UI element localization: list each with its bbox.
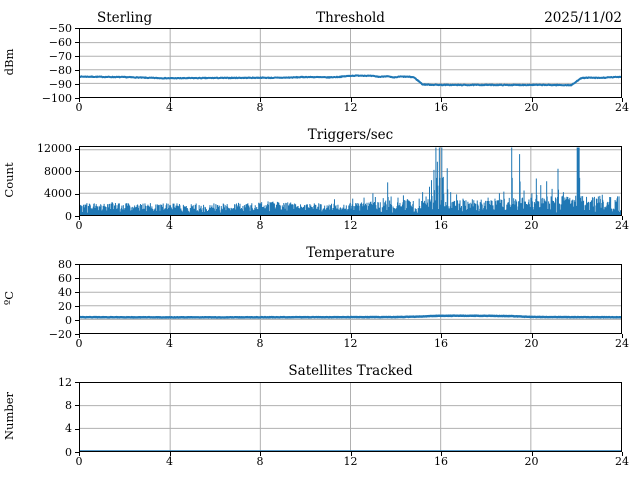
panel-triggers: Triggers/sec 04000800012000 Count 048121… <box>0 126 640 236</box>
ytick-label: −60 <box>49 37 72 48</box>
ytick-mark <box>75 56 79 57</box>
ytick-label: 0 <box>65 315 72 326</box>
ytick-label: −70 <box>49 51 72 62</box>
xtick-mark <box>622 334 623 338</box>
panel-title-satellites: Satellites Tracked <box>79 362 622 380</box>
ytick-label: 20 <box>58 301 72 312</box>
xtick-label: 16 <box>421 338 461 350</box>
xtick-labels-satellites: 04812162024 <box>79 454 622 468</box>
xtick-mark <box>441 452 442 456</box>
xtick-label: 8 <box>240 220 280 232</box>
ytick-label: 12 <box>58 377 72 388</box>
ytick-label: 8 <box>65 400 72 411</box>
xtick-mark <box>441 334 442 338</box>
ytick-label: −90 <box>49 79 72 90</box>
xtick-labels-temperature: 04812162024 <box>79 336 622 350</box>
panel-title-temperature: Temperature <box>79 244 622 262</box>
ytick-label: −80 <box>49 65 72 76</box>
ytick-mark <box>75 28 79 29</box>
xtick-mark <box>622 452 623 456</box>
ytick-mark <box>75 149 79 150</box>
xtick-mark <box>532 452 533 456</box>
xtick-label: 24 <box>602 456 640 468</box>
xtick-label: 24 <box>602 102 640 114</box>
xtick-label: 8 <box>240 456 280 468</box>
xtick-label: 4 <box>150 338 190 350</box>
xtick-mark <box>351 334 352 338</box>
figure-header: Sterling Threshold 2025/11/02 <box>79 8 622 28</box>
ytick-label: 40 <box>58 287 72 298</box>
xtick-mark <box>79 334 80 338</box>
xtick-mark <box>532 98 533 102</box>
xtick-label: 20 <box>512 338 552 350</box>
xtick-mark <box>622 216 623 220</box>
xtick-mark <box>79 452 80 456</box>
xtick-mark <box>260 98 261 102</box>
ytick-label: 8000 <box>44 166 72 177</box>
ytick-label: 12000 <box>37 143 72 154</box>
xtick-labels-triggers: 04812162024 <box>79 218 622 232</box>
xtick-label: 4 <box>150 220 190 232</box>
xtick-label: 16 <box>421 102 461 114</box>
xtick-label: 20 <box>512 102 552 114</box>
plot-area-satellites <box>79 382 622 452</box>
ytick-mark <box>75 292 79 293</box>
ytick-mark <box>75 382 79 383</box>
xtick-mark <box>351 98 352 102</box>
xtick-mark <box>170 334 171 338</box>
xtick-mark <box>170 452 171 456</box>
xtick-mark <box>351 452 352 456</box>
ytick-mark <box>75 194 79 195</box>
xtick-label: 20 <box>512 456 552 468</box>
xtick-mark <box>532 216 533 220</box>
panel-title-triggers: Triggers/sec <box>79 126 622 144</box>
xtick-label: 24 <box>602 338 640 350</box>
figure-title: Threshold <box>79 8 622 28</box>
ylabel-triggers: Count <box>2 153 16 207</box>
ytick-label: 60 <box>58 273 72 284</box>
ytick-label: −50 <box>49 23 72 34</box>
xtick-label: 12 <box>331 456 371 468</box>
xtick-mark <box>532 334 533 338</box>
xtick-label: 0 <box>59 456 99 468</box>
xtick-label: 20 <box>512 220 552 232</box>
ytick-mark <box>75 306 79 307</box>
panel-satellites: Satellites Tracked 04812 Number 04812162… <box>0 362 640 472</box>
ytick-label: 80 <box>58 259 72 270</box>
xtick-label: 8 <box>240 338 280 350</box>
xtick-label: 12 <box>331 338 371 350</box>
ytick-mark <box>75 429 79 430</box>
xtick-label: 12 <box>331 102 371 114</box>
observation-date: 2025/11/02 <box>544 8 622 28</box>
xtick-labels-threshold: 04812162024 <box>79 100 622 114</box>
xtick-label: 16 <box>421 220 461 232</box>
ytick-label: 4000 <box>44 188 72 199</box>
plot-svg-triggers <box>80 147 621 215</box>
xtick-label: 12 <box>331 220 371 232</box>
ytick-mark <box>75 405 79 406</box>
ytick-mark <box>75 320 79 321</box>
xtick-mark <box>79 216 80 220</box>
ytick-label: 4 <box>65 423 72 434</box>
plot-area-temperature <box>79 264 622 334</box>
xtick-label: 0 <box>59 220 99 232</box>
xtick-mark <box>351 216 352 220</box>
xtick-mark <box>441 216 442 220</box>
plot-area-threshold <box>79 28 622 98</box>
plot-svg-threshold <box>80 29 621 97</box>
xtick-mark <box>170 98 171 102</box>
xtick-mark <box>79 98 80 102</box>
xtick-label: 4 <box>150 102 190 114</box>
xtick-label: 0 <box>59 102 99 114</box>
ytick-mark <box>75 84 79 85</box>
plot-svg-temperature <box>80 265 621 333</box>
plot-svg-satellites <box>80 383 621 451</box>
figure-canvas: Sterling Threshold 2025/11/02 −100−90−80… <box>0 0 640 480</box>
ylabel-threshold: dBm <box>2 35 16 89</box>
xtick-mark <box>170 216 171 220</box>
ytick-mark <box>75 171 79 172</box>
xtick-mark <box>441 98 442 102</box>
ytick-mark <box>75 264 79 265</box>
ytick-mark <box>75 42 79 43</box>
plot-area-triggers <box>79 146 622 216</box>
ytick-mark <box>75 70 79 71</box>
ytick-labels-temperature: −20020406080 <box>28 264 72 334</box>
xtick-mark <box>260 216 261 220</box>
xtick-label: 24 <box>602 220 640 232</box>
ytick-labels-triggers: 04000800012000 <box>28 146 72 216</box>
xtick-mark <box>260 334 261 338</box>
panel-threshold: −100−90−80−70−60−50 dBm 04812162024 <box>0 28 640 122</box>
xtick-label: 8 <box>240 102 280 114</box>
xtick-mark <box>260 452 261 456</box>
ylabel-temperature: ºC <box>2 271 16 325</box>
ytick-mark <box>75 278 79 279</box>
ytick-labels-satellites: 04812 <box>28 382 72 452</box>
xtick-label: 16 <box>421 456 461 468</box>
xtick-label: 0 <box>59 338 99 350</box>
ylabel-satellites: Number <box>2 389 16 443</box>
xtick-mark <box>622 98 623 102</box>
xtick-label: 4 <box>150 456 190 468</box>
ytick-labels-threshold: −100−90−80−70−60−50 <box>28 28 72 98</box>
panel-temperature: Temperature −20020406080 ºC 04812162024 <box>0 244 640 354</box>
